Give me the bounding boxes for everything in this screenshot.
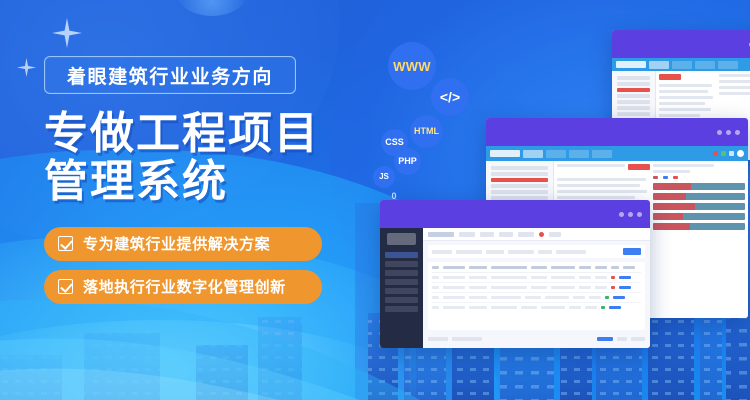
halo-circle-decor — [176, 0, 248, 16]
nav-tab[interactable] — [523, 150, 543, 158]
message-icon[interactable] — [721, 151, 726, 156]
user-menu[interactable] — [549, 232, 561, 237]
checkbox-checked-icon — [58, 236, 73, 251]
nav-tab[interactable] — [546, 150, 566, 158]
sidebar-item[interactable] — [385, 306, 418, 312]
content-area — [423, 228, 650, 348]
feature-badge-list: 专为建筑行业提供解决方案 落地执行行业数字化管理创新 — [44, 227, 344, 304]
page-title: 专做工程项目 管理系统 — [44, 110, 344, 207]
nav-tab[interactable] — [672, 61, 692, 69]
list-item — [659, 84, 712, 87]
sidebar-item-active[interactable] — [385, 252, 418, 258]
bubble-js-icon: JS — [373, 166, 395, 188]
toolbar-item[interactable] — [480, 232, 494, 237]
primary-button[interactable] — [659, 74, 681, 80]
tech-bubble-cluster: WWW </> HTML CSS PHP JS 0 — [372, 30, 512, 210]
table-row[interactable] — [432, 283, 641, 293]
chart-bar — [653, 203, 745, 210]
sidebar-item[interactable] — [617, 94, 650, 98]
filter-label — [432, 250, 452, 254]
list-item — [557, 184, 640, 187]
list-item — [557, 190, 647, 193]
sidebar-item[interactable] — [617, 112, 650, 116]
sidebar-item[interactable] — [617, 82, 650, 86]
bubble-www-icon: WWW — [388, 42, 436, 90]
chart-bar — [653, 223, 745, 230]
feature-badge-label: 专为建筑行业提供解决方案 — [83, 233, 270, 254]
window-title-bar — [486, 118, 748, 146]
app-header — [612, 58, 750, 71]
sparkle-icon — [52, 18, 82, 48]
row-count-label — [428, 337, 448, 341]
chart-bar — [653, 183, 745, 190]
sidebar-item[interactable] — [617, 100, 650, 104]
list-item — [557, 178, 646, 181]
filter-bar — [428, 245, 645, 258]
window-dot — [637, 212, 642, 217]
nav-tab[interactable] — [592, 150, 612, 158]
feature-badge[interactable]: 落地执行行业数字化管理创新 — [44, 270, 322, 304]
primary-button[interactable] — [628, 164, 650, 170]
bubble-php-icon: PHP — [394, 148, 421, 175]
promo-banner: 着眼建筑行业业务方向 专做工程项目 管理系统 专为建筑行业提供解决方案 落地执行… — [0, 0, 750, 400]
chart-panel — [653, 164, 745, 315]
list-item — [659, 108, 711, 111]
filter-select[interactable] — [456, 250, 482, 254]
nav-tab[interactable] — [718, 61, 738, 69]
sidebar-item[interactable] — [385, 288, 418, 294]
selection-label — [452, 337, 482, 341]
detail-line — [719, 92, 750, 95]
window-dot — [726, 130, 731, 135]
feature-badge-label: 落地执行行业数字化管理创新 — [83, 276, 286, 297]
window-title-bar — [612, 30, 750, 58]
list-item — [659, 96, 713, 99]
filter-select[interactable] — [508, 250, 534, 254]
bubble-code-icon: </> — [431, 78, 469, 116]
alert-icon[interactable] — [713, 151, 718, 156]
sidebar-item[interactable] — [385, 297, 418, 303]
app-header — [486, 146, 748, 161]
toolbar-item[interactable] — [499, 232, 513, 237]
app-logo — [387, 233, 416, 245]
sidebar-item[interactable] — [385, 261, 418, 267]
window-dot — [717, 130, 722, 135]
detail-line — [719, 80, 750, 83]
notification-badge[interactable] — [539, 232, 544, 237]
sidebar-item[interactable] — [617, 106, 650, 110]
sidebar-item[interactable] — [617, 76, 650, 80]
sidebar-item-active[interactable] — [617, 88, 650, 92]
nav-tab[interactable] — [569, 150, 589, 158]
horizontal-bar-chart — [653, 183, 745, 230]
toolbar-item[interactable] — [459, 232, 475, 237]
filter-label — [486, 250, 504, 254]
detail-line — [719, 86, 750, 89]
chart-bar — [653, 213, 745, 220]
legend-entry — [653, 176, 658, 179]
headline-block: 着眼建筑行业业务方向 专做工程项目 管理系统 专为建筑行业提供解决方案 落地执行… — [44, 56, 344, 304]
legend-entry — [673, 176, 678, 179]
legend-entry — [663, 176, 668, 179]
feature-badge[interactable]: 专为建筑行业提供解决方案 — [44, 227, 322, 261]
list-item — [659, 102, 705, 105]
toolbar-item[interactable] — [518, 232, 534, 237]
nav-tab[interactable] — [695, 61, 715, 69]
bell-icon[interactable] — [729, 151, 734, 156]
list-item — [557, 196, 635, 199]
breadcrumb — [428, 232, 454, 237]
headline-line-1: 专做工程项目 — [44, 109, 320, 158]
table-row[interactable] — [432, 303, 641, 312]
page-size-select[interactable] — [631, 337, 645, 341]
table-footer — [428, 334, 645, 344]
sidebar-item[interactable] — [385, 279, 418, 285]
dashboard-screenshot-front — [380, 200, 650, 348]
table-row[interactable] — [432, 293, 641, 303]
search-button[interactable] — [623, 248, 641, 255]
filter-label — [538, 250, 552, 254]
list-item — [659, 90, 709, 93]
pagination-next[interactable] — [617, 337, 627, 341]
data-table — [428, 262, 645, 330]
eyebrow-tagline: 着眼建筑行业业务方向 — [44, 56, 296, 94]
window-dot — [735, 130, 740, 135]
nav-tab[interactable] — [649, 61, 669, 69]
app-logo — [616, 61, 646, 68]
detail-line — [719, 74, 750, 77]
sparkle-icon — [17, 58, 36, 77]
chart-legend — [653, 176, 745, 179]
sidebar-nav — [380, 228, 423, 348]
chart-bar — [653, 193, 745, 200]
bubble-html-icon: HTML — [410, 115, 443, 148]
search-input[interactable] — [556, 250, 586, 254]
window-dot — [619, 212, 624, 217]
table-row[interactable] — [432, 273, 641, 283]
pagination-current[interactable] — [597, 337, 613, 341]
bubble-zero-icon: 0 — [385, 187, 403, 205]
avatar[interactable] — [737, 150, 744, 157]
window-dot — [628, 212, 633, 217]
headline-line-2: 管理系统 — [44, 158, 344, 206]
top-toolbar — [423, 228, 650, 241]
checkbox-checked-icon — [58, 279, 73, 294]
table-header-row — [432, 266, 641, 273]
sidebar-item[interactable] — [385, 270, 418, 276]
list-item — [659, 114, 701, 117]
